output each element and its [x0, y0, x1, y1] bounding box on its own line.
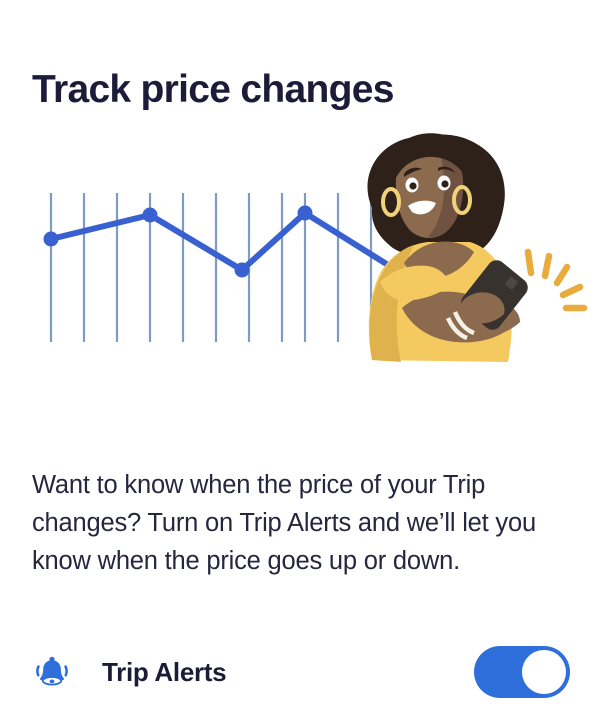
chart-gridlines: [51, 193, 371, 342]
page-title: Track price changes: [32, 68, 394, 113]
trip-alerts-toggle[interactable]: [474, 646, 570, 698]
chart-line-series: [44, 206, 421, 286]
woman-figure: [368, 133, 584, 362]
trip-alerts-row: Trip Alerts: [0, 624, 600, 720]
price-chart-illustration-svg: [0, 130, 600, 400]
hero-illustration: [0, 130, 600, 400]
toggle-knob: [522, 650, 566, 694]
track-price-changes-card: Track price changes: [0, 0, 600, 720]
description-text: Want to know when the price of your Trip…: [32, 466, 552, 580]
trip-alerts-label: Trip Alerts: [102, 657, 474, 688]
bell-icon: [32, 652, 72, 692]
sparkle-icon: [528, 252, 584, 308]
pupil-right: [441, 180, 448, 187]
pupil-left: [409, 182, 416, 189]
